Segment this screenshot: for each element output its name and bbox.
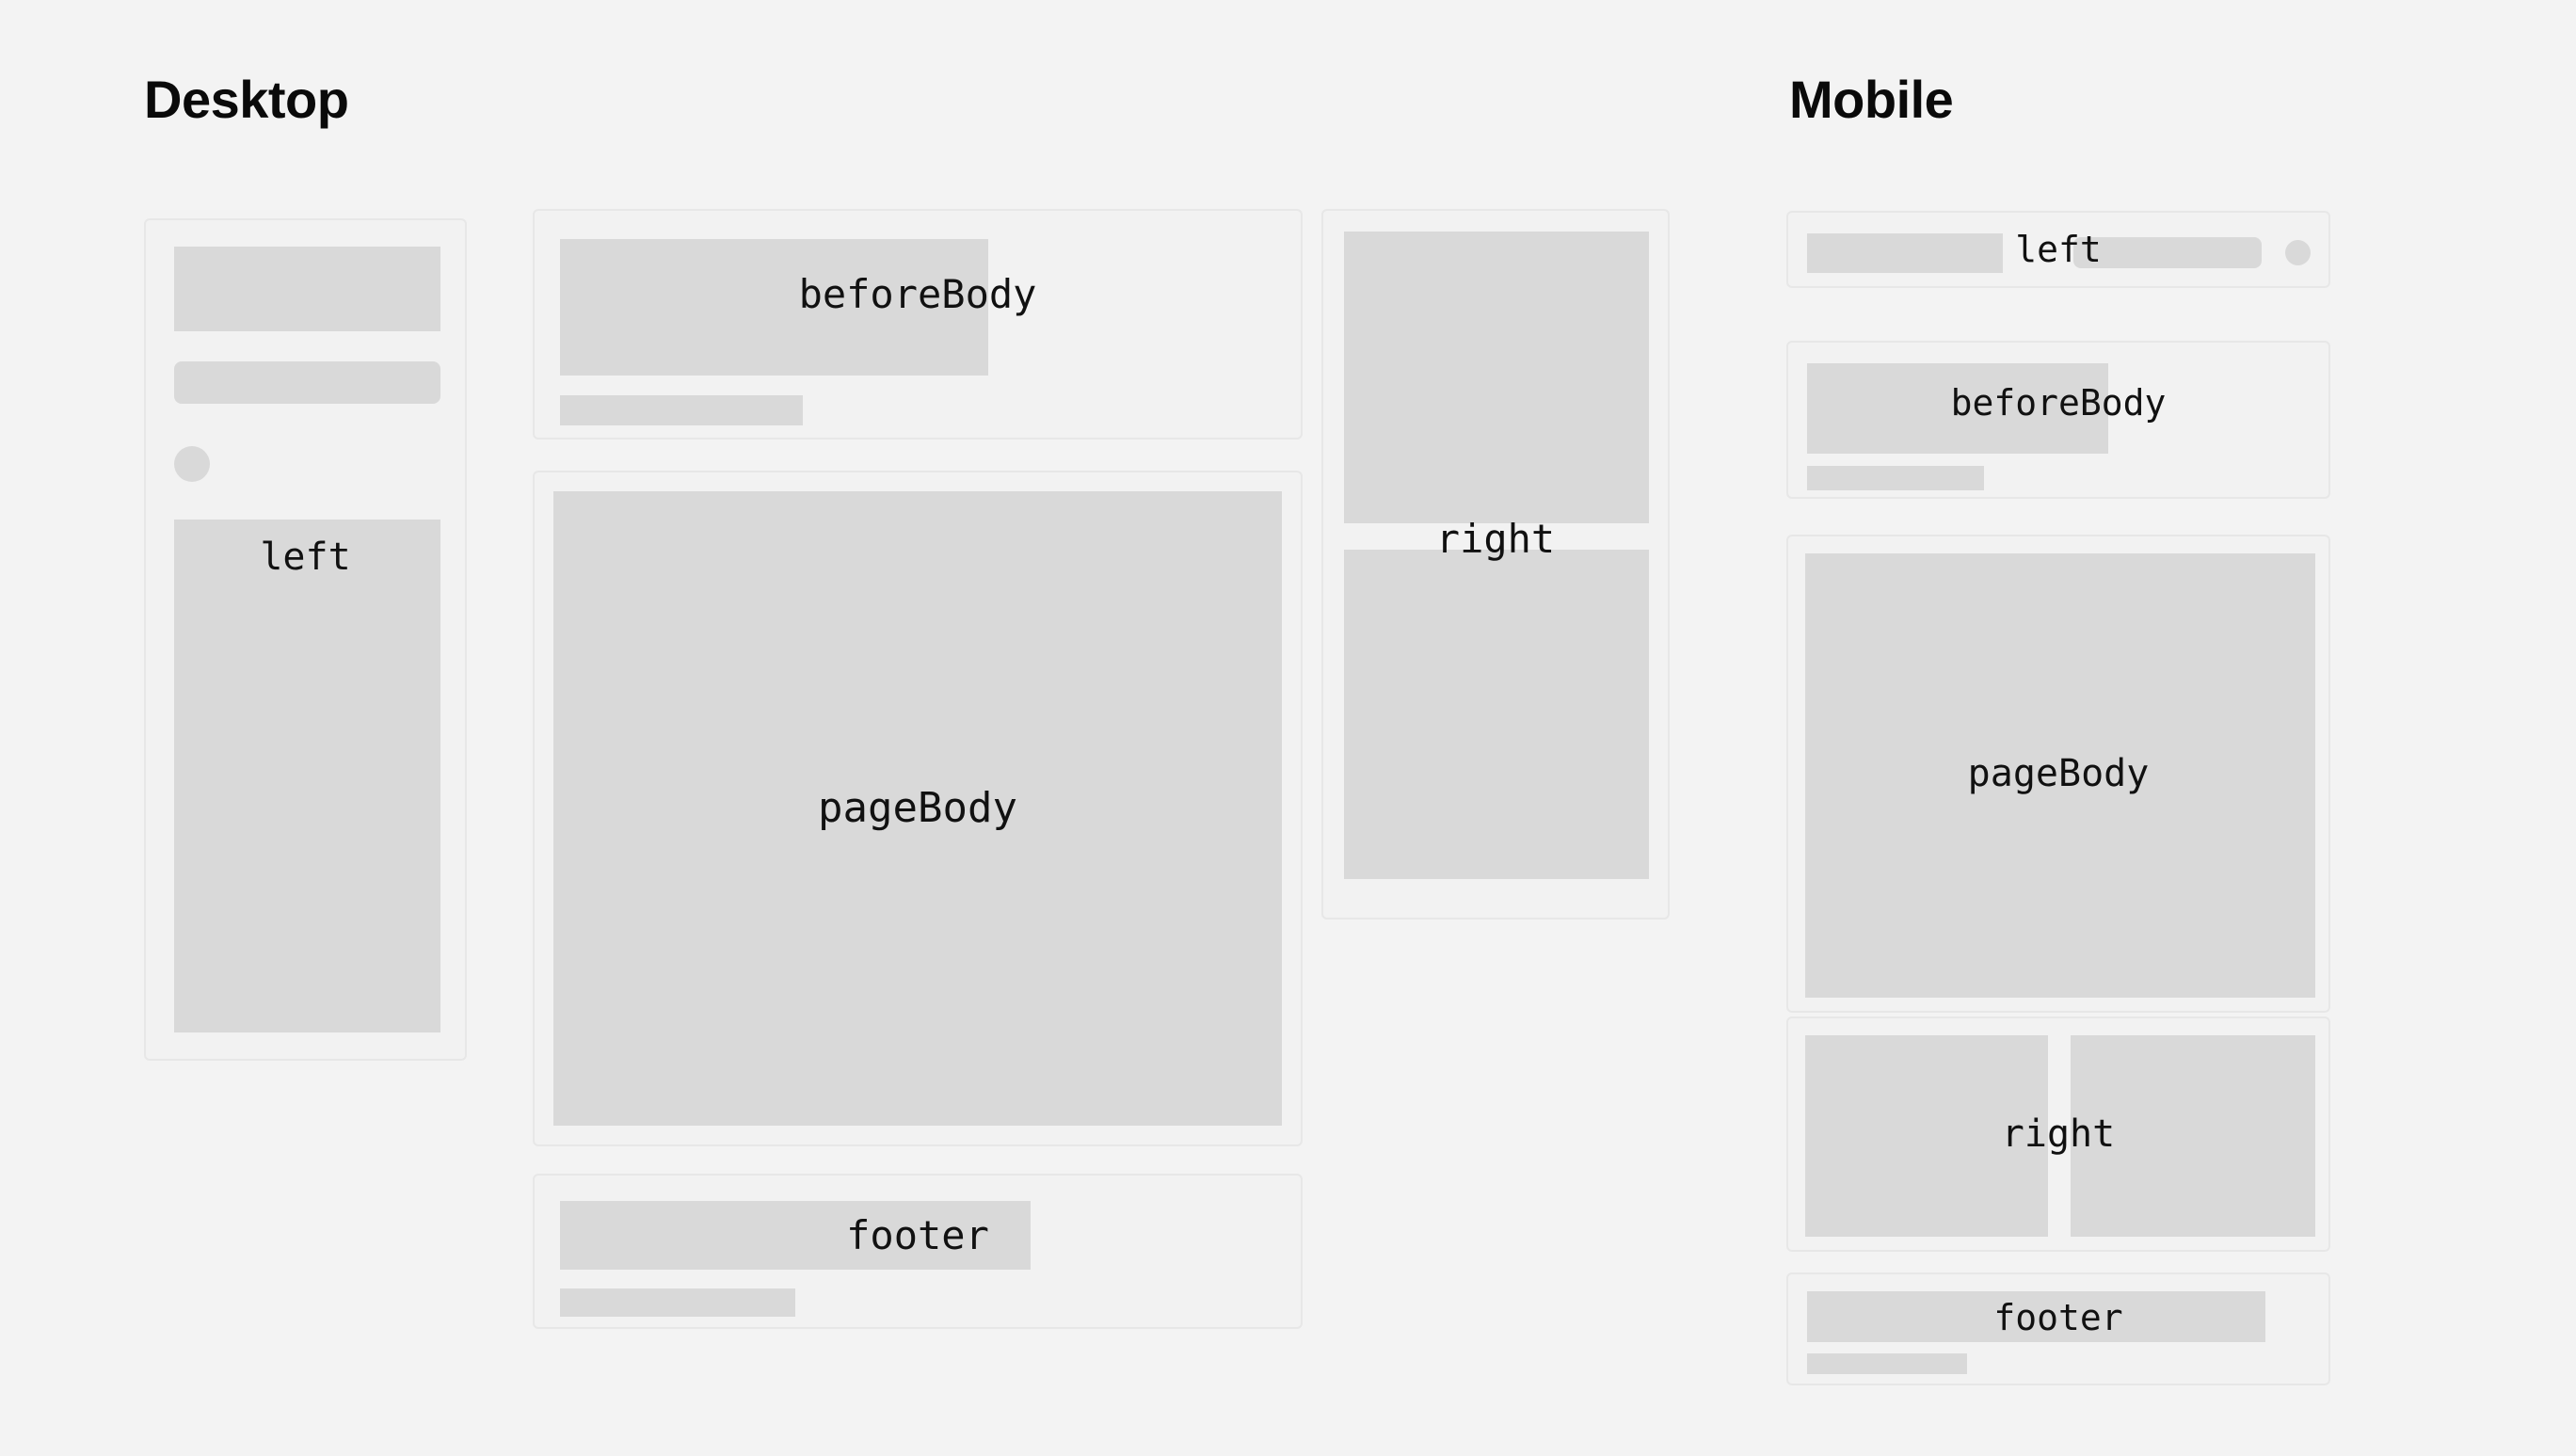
layout-preview-stage: Desktop Mobile left beforeBody pageBody … (0, 0, 2576, 1456)
skeleton-block (174, 247, 440, 331)
skeleton-block-small (560, 395, 803, 425)
desktop-right-slot-card[interactable] (1321, 209, 1670, 920)
skeleton-block (1344, 232, 1649, 523)
skeleton-block-small (1807, 1353, 1967, 1374)
skeleton-block (1807, 233, 2003, 273)
skeleton-avatar-circle (2285, 240, 2311, 265)
desktop-beforebody-slot-card[interactable] (533, 209, 1303, 440)
skeleton-block (1807, 363, 2108, 454)
mobile-right-slot-card[interactable] (1786, 1016, 2330, 1252)
skeleton-avatar-circle (174, 446, 210, 482)
desktop-section-title: Desktop (144, 73, 348, 126)
skeleton-block (1344, 550, 1649, 879)
mobile-footer-slot-card[interactable] (1786, 1272, 2330, 1385)
skeleton-block-large (1805, 553, 2315, 998)
skeleton-block-small (560, 1288, 795, 1317)
skeleton-block (2071, 1035, 2315, 1237)
skeleton-block-large (553, 491, 1282, 1126)
mobile-pagebody-slot-card[interactable] (1786, 535, 2330, 1013)
skeleton-block-small (1807, 466, 1984, 490)
skeleton-block (1807, 1291, 2265, 1342)
skeleton-pill (174, 361, 440, 404)
skeleton-pill (2073, 237, 2262, 268)
desktop-left-slot-card[interactable] (144, 218, 467, 1061)
skeleton-block (1805, 1035, 2048, 1237)
desktop-pagebody-slot-card[interactable] (533, 471, 1303, 1146)
mobile-beforebody-slot-card[interactable] (1786, 341, 2330, 499)
skeleton-block (560, 1201, 1031, 1270)
skeleton-block (560, 239, 988, 376)
mobile-section-title: Mobile (1789, 73, 1953, 126)
skeleton-block-tall (174, 520, 440, 1032)
mobile-left-slot-card[interactable] (1786, 211, 2330, 288)
desktop-footer-slot-card[interactable] (533, 1174, 1303, 1329)
